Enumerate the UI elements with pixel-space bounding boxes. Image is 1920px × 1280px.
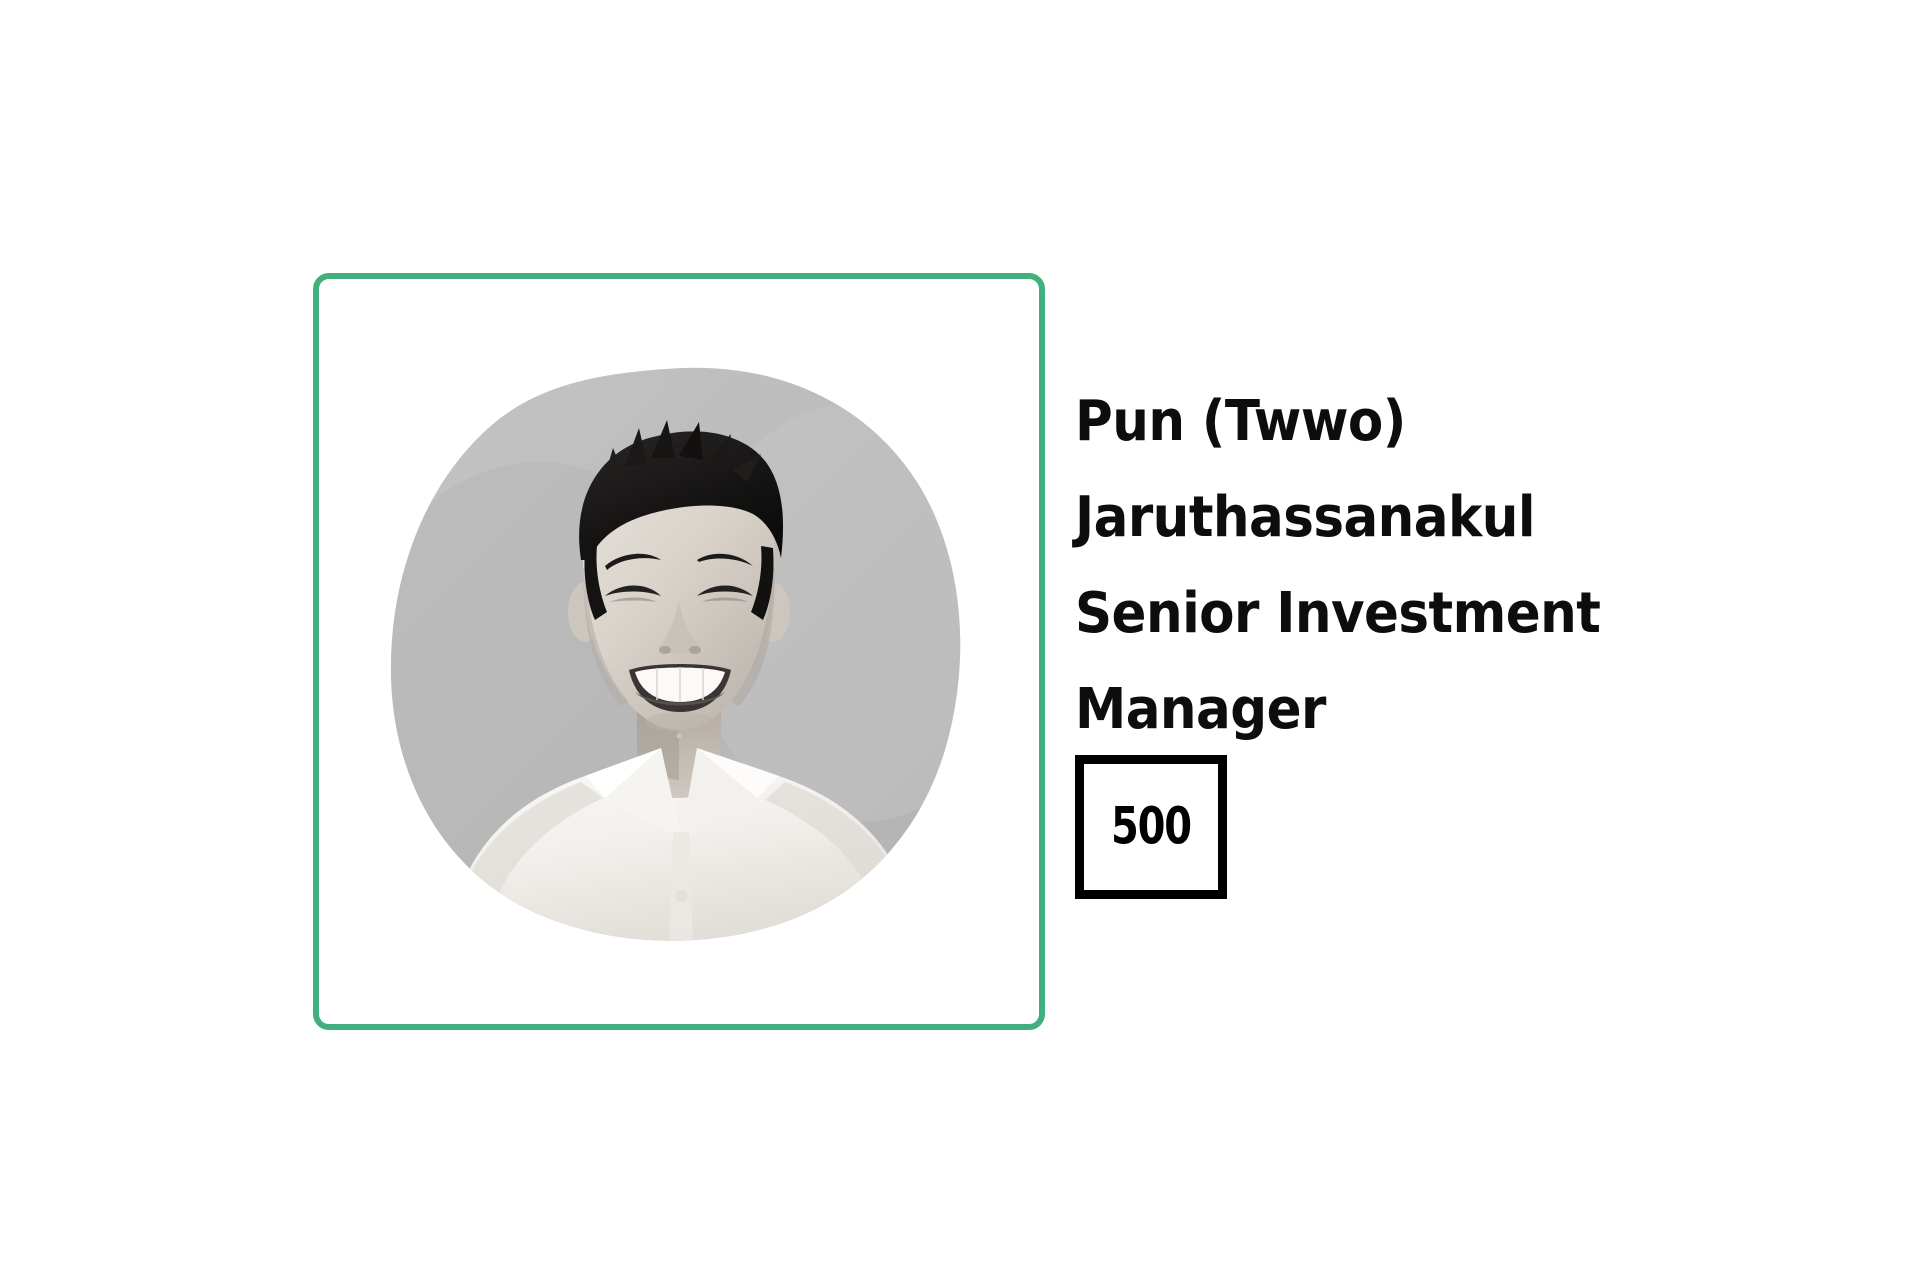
portrait-blob xyxy=(389,362,969,942)
profile-card-canvas: Pun (Twwo) Jaruthassanakul Senior Invest… xyxy=(0,0,1920,1280)
profile-name-line-1: Pun (Twwo) xyxy=(1075,374,1774,470)
profile-title-line-2: Manager xyxy=(1075,662,1774,758)
profile-title-line-1: Senior Investment xyxy=(1075,566,1774,662)
portrait-card xyxy=(313,273,1045,1030)
500-logo-label: 500 xyxy=(1111,801,1191,852)
portrait-photo-icon xyxy=(389,362,969,942)
profile-name-line-2: Jaruthassanakul xyxy=(1075,470,1774,566)
500-logo: 500 xyxy=(1075,755,1227,899)
profile-info: Pun (Twwo) Jaruthassanakul Senior Invest… xyxy=(1075,374,1835,758)
